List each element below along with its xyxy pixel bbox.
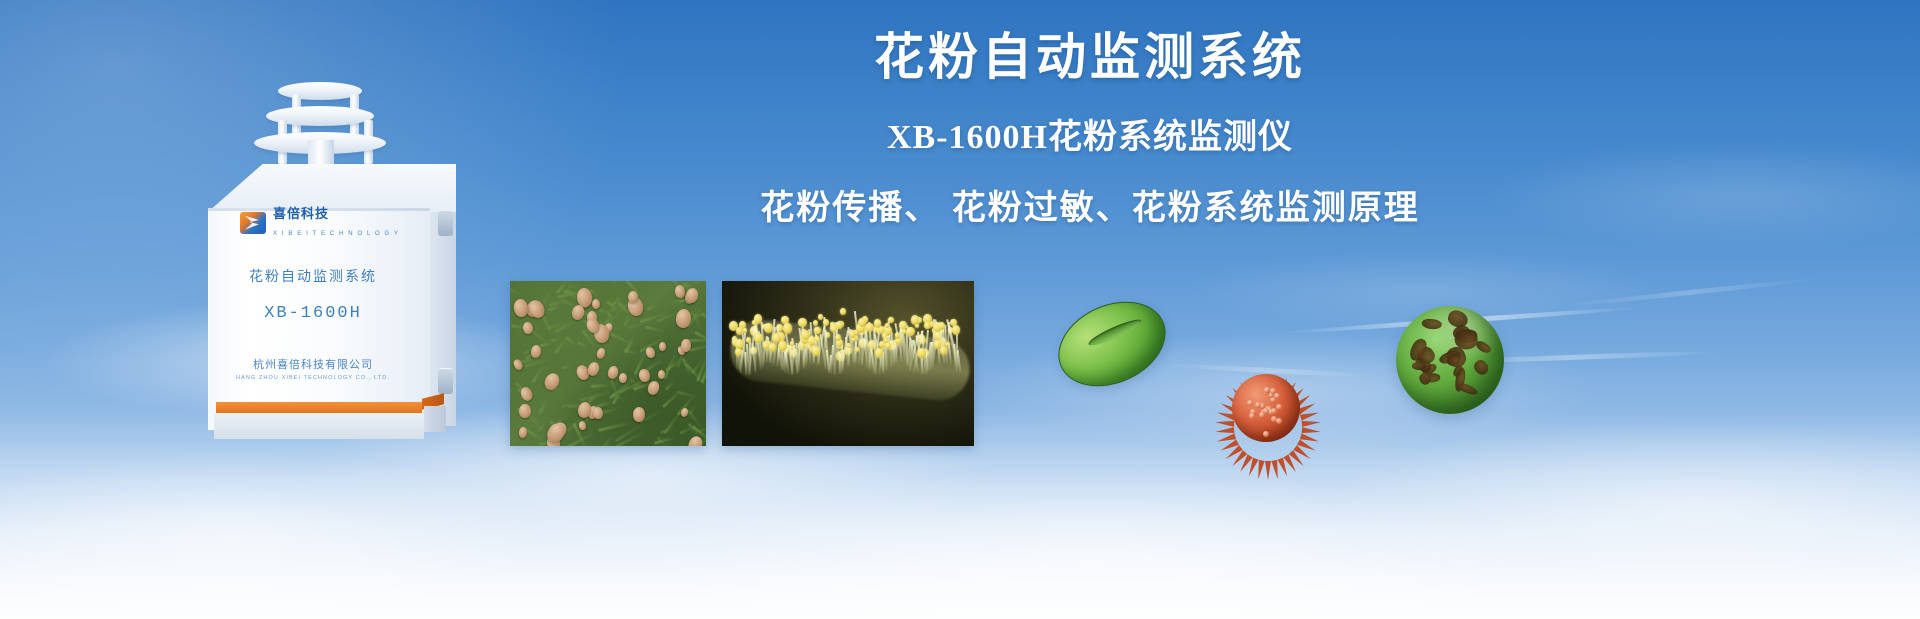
grain-spiky — [1216, 358, 1316, 458]
cloud — [0, 450, 540, 619]
page-title: 花粉自动监测系统 — [600, 30, 1580, 85]
company-name-cn: 杭州喜倍科技有限公司 — [196, 356, 430, 372]
banner-tagline: 花粉传播、 花粉过敏、花粉系统监测原理 — [600, 180, 1580, 229]
device-brand-logo: 喜倍科技 X I B E I T E C H N O L O G Y — [240, 206, 400, 240]
banner-root: 花粉自动监测系统 XB-1600H花粉系统监测仪 花粉传播、 花粉过敏、花粉系统… — [0, 0, 1920, 619]
brand-name-cn: 喜倍科技 — [273, 206, 329, 221]
device-panel-model: XB-1600H — [196, 304, 430, 323]
brand-name-en: X I B E I T E C H N O L O G Y — [273, 231, 400, 237]
cabinet-top — [208, 164, 456, 212]
device-base — [214, 413, 424, 439]
cloud-streak — [1560, 276, 1819, 308]
xibei-logo-icon — [240, 212, 266, 234]
device-base-side — [424, 406, 446, 432]
company-name-en: HANG ZHOU XIBEI TECHNOLOGY CO., LTD. — [196, 375, 430, 381]
banner-text-block: 花粉自动监测系统 XB-1600H花粉系统监测仪 花粉传播、 花粉过敏、花粉系统… — [600, 30, 1580, 229]
banner-subtitle: XB-1600H花粉系统监测仪 — [600, 109, 1580, 158]
photo-catkin — [722, 281, 974, 446]
door-latch-top[interactable] — [438, 210, 453, 236]
cloud — [1320, 420, 1920, 590]
device-company-block: 杭州喜倍科技有限公司 HANG ZHOU XIBEI TECHNOLOGY CO… — [196, 356, 430, 381]
photo-cypress-cones — [510, 281, 706, 446]
door-latch-bottom[interactable] — [438, 368, 453, 394]
grain-mottled — [1396, 306, 1504, 414]
device-panel-title: 花粉自动监测系统 — [196, 266, 430, 286]
pollen-monitor-device: 喜倍科技 X I B E I T E C H N O L O G Y 花粉自动监… — [196, 78, 471, 438]
accent-stripe — [216, 402, 422, 413]
cloud — [640, 470, 1540, 619]
grain-green-oval — [1056, 305, 1168, 383]
